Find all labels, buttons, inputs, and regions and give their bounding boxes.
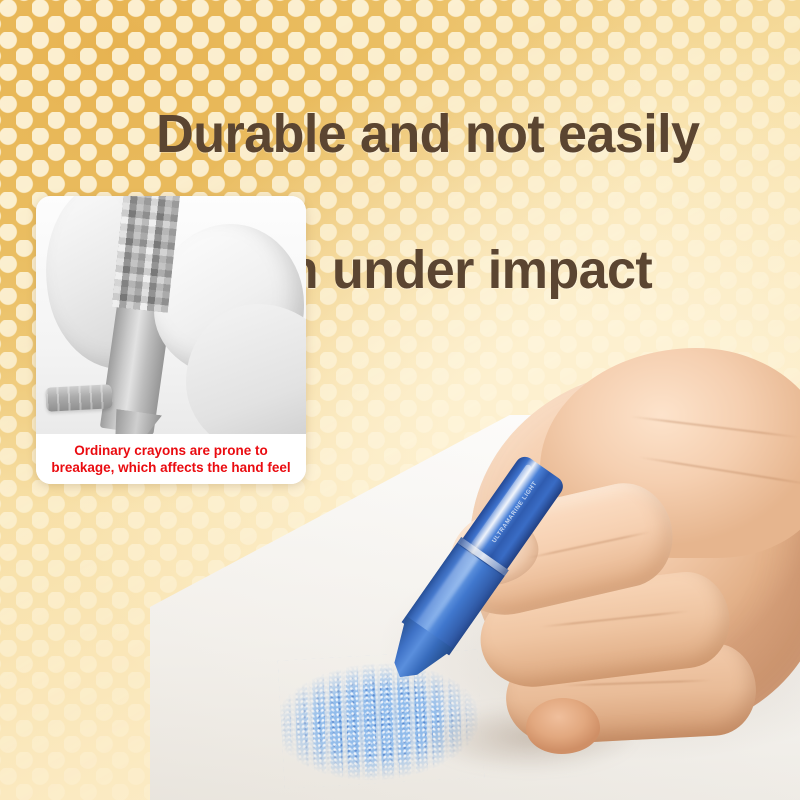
inset-caption-line-1: Ordinary crayons are prone to [74, 442, 268, 459]
inset-photo-broken-crayon [36, 196, 306, 434]
thumb-tip [526, 698, 600, 754]
inset-caption-line-2: breakage, which affects the hand feel [51, 459, 290, 476]
hand-holding-crayon [330, 330, 800, 800]
product-feature-banner: Durable and not easily broken under impa… [0, 0, 800, 800]
inset-caption: Ordinary crayons are prone to breakage, … [36, 434, 306, 484]
comparison-inset-card: Ordinary crayons are prone to breakage, … [36, 196, 306, 484]
inset-broken-crayon-piece [45, 384, 112, 411]
